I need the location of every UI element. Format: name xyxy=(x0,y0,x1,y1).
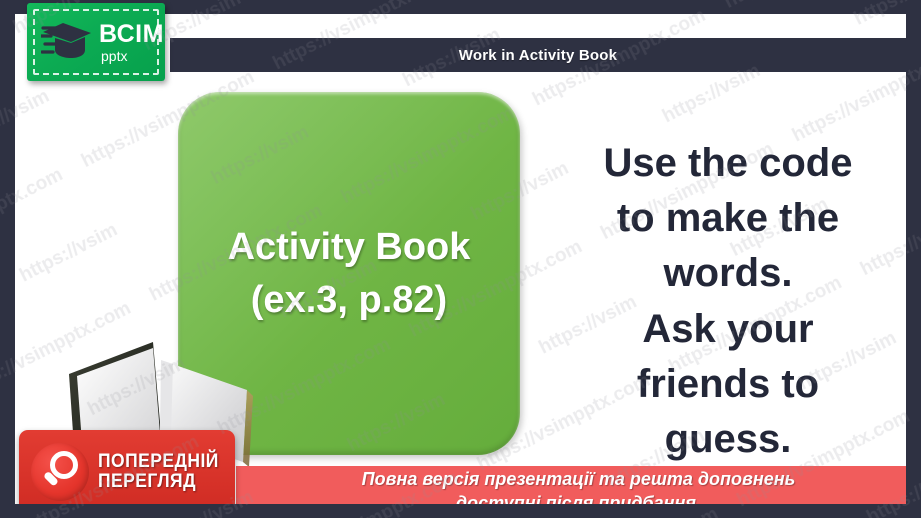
magnifier-icon xyxy=(31,443,89,501)
purchase-notice-banner: Повна версія презентації та решта доповн… xyxy=(236,466,906,504)
page-title: Work in Activity Book xyxy=(459,47,617,64)
slide-header-bar: Work in Activity Book xyxy=(170,38,906,72)
activity-book-reference: (ex.3, p.82) xyxy=(251,274,447,326)
slide-outer-frame: Work in Activity Book Activity Book (ex.… xyxy=(0,0,921,518)
graduation-cap-icon xyxy=(41,17,95,68)
notice-line-2: доступні після придбання. xyxy=(456,492,701,505)
logo-name: ВСІМ xyxy=(99,22,164,47)
instruction-line-1: Use the code xyxy=(568,136,888,191)
instruction-line-6: guess. xyxy=(568,412,888,467)
notice-line-1: Повна версія презентації та решта доповн… xyxy=(362,468,796,491)
preview-badge-line-1: ПОПЕРЕДНІЙ xyxy=(98,452,219,472)
instruction-line-4: Ask your xyxy=(568,302,888,357)
instruction-line-2: to make the xyxy=(568,191,888,246)
instruction-line-5: friends to xyxy=(568,357,888,412)
activity-book-title: Activity Book xyxy=(228,221,471,273)
preview-badge-label: ПОПЕРЕДНІЙ ПЕРЕГЛЯД xyxy=(98,452,219,491)
instruction-line-3: words. xyxy=(568,246,888,301)
slide-canvas: Work in Activity Book Activity Book (ex.… xyxy=(15,14,906,504)
logo-subtitle: pptx xyxy=(101,49,164,63)
instruction-text-block: Use the code to make the words. Ask your… xyxy=(568,136,888,467)
preview-badge[interactable]: ПОПЕРЕДНІЙ ПЕРЕГЛЯД xyxy=(19,430,235,504)
logo-wordmark: ВСІМ pptx xyxy=(99,22,164,63)
site-logo[interactable]: ВСІМ pptx xyxy=(27,3,165,81)
preview-badge-line-2: ПЕРЕГЛЯД xyxy=(98,472,219,492)
